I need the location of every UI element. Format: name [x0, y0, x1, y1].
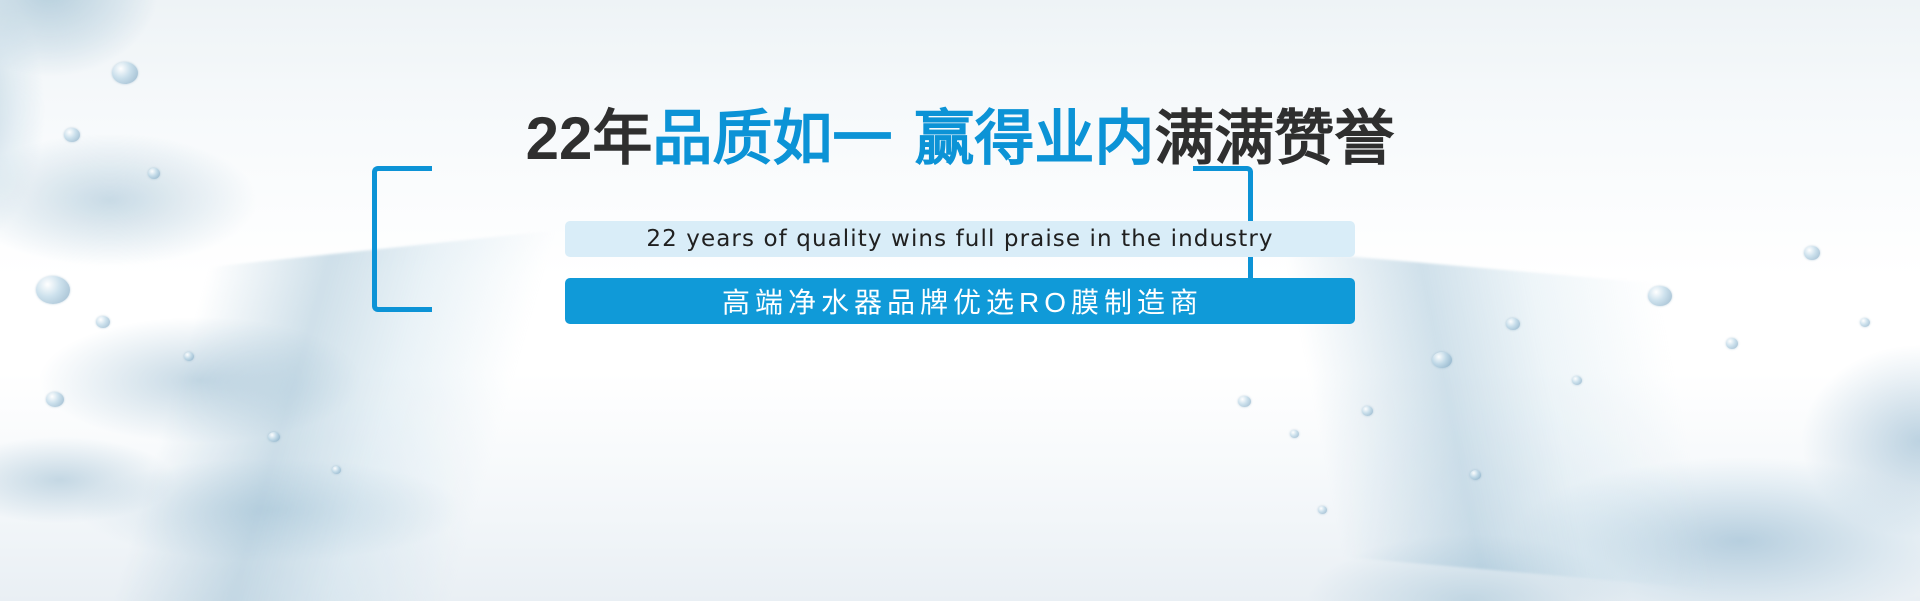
cta-text: 高端净水器品牌优选RO膜制造商 — [717, 281, 1203, 321]
banner-content: 22年品质如一赢得业内满满赞誉 22 years of quality wins… — [0, 0, 1920, 601]
hero-banner: 22年品质如一赢得业内满满赞誉 22 years of quality wins… — [0, 0, 1920, 601]
headline-part-3: 赢得业内 — [914, 105, 1154, 172]
headline-part-2: 品质如一 — [652, 105, 892, 172]
cta-bar: 高端净水器品牌优选RO膜制造商 — [565, 278, 1355, 324]
headline-part-1: 22年 — [526, 105, 653, 172]
headline-part-4: 满满赞誉 — [1154, 105, 1394, 172]
subtitle-text: 22 years of quality wins full praise in … — [646, 226, 1273, 252]
subtitle-bar: 22 years of quality wins full praise in … — [565, 221, 1355, 257]
bracket-left-icon — [372, 166, 432, 312]
headline: 22年品质如一赢得业内满满赞誉 — [0, 104, 1920, 174]
